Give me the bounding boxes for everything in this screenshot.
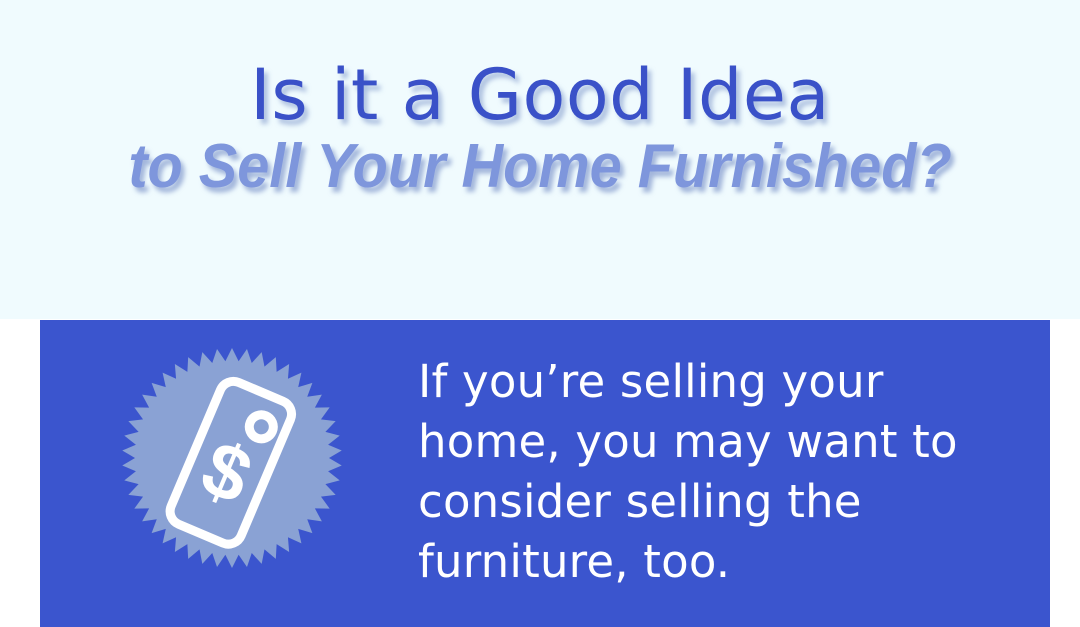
body-line: home, you may want to [418, 412, 1018, 472]
page-title: Is it a Good Idea to Sell Your Home Furn… [0, 0, 1080, 202]
body-line: consider selling the [418, 472, 1018, 532]
body-line: furniture, too. [418, 532, 1018, 592]
price-tag-icon: $ [122, 348, 342, 568]
body-line: If you’re selling your [418, 352, 1018, 412]
title-line-primary: Is it a Good Idea [0, 56, 1080, 134]
title-line-secondary: to Sell Your Home Furnished? [38, 132, 1042, 202]
infographic-root: Is it a Good Idea to Sell Your Home Furn… [0, 0, 1080, 627]
price-tag-badge: $ [122, 348, 342, 568]
content-panel: $ If you’re selling your home, you may w… [40, 320, 1050, 627]
panel-body-text: If you’re selling your home, you may wan… [418, 352, 1018, 592]
header-band: Is it a Good Idea to Sell Your Home Furn… [0, 0, 1080, 319]
